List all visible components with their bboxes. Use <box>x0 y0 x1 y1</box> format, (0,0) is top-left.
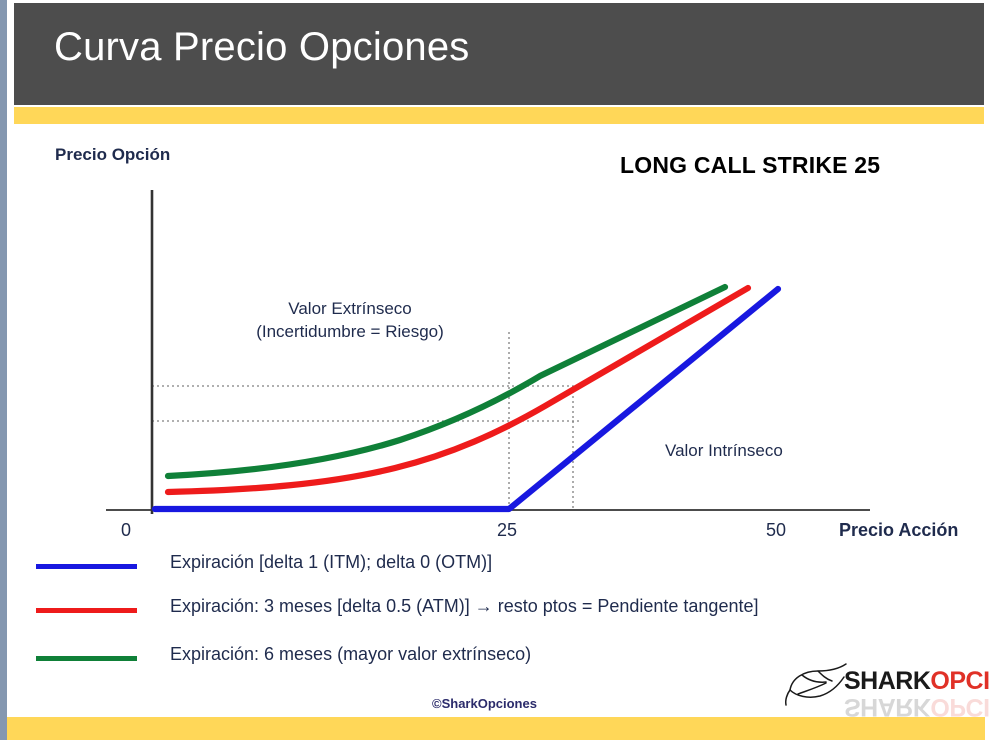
x-tick-label-25: 25 <box>497 520 517 541</box>
annotation-valor-intrinseco: Valor Intrínseco <box>665 440 783 463</box>
annotation-extrinseco-line2: (Incertidumbre = Riesgo) <box>215 321 485 344</box>
option-price-curve-plot <box>0 124 990 544</box>
copyright-text: ©SharkOpciones <box>432 696 537 711</box>
legend-label-6-meses: Expiración: 6 meses (mayor valor extríns… <box>170 644 531 665</box>
annotation-valor-extrinseco: Valor Extrínseco (Incertidumbre = Riesgo… <box>215 298 485 344</box>
logo-word-shark: SHARK <box>844 667 930 695</box>
x-tick-label-50: 50 <box>766 520 786 541</box>
x-axis-label: Precio Acción <box>839 520 958 541</box>
sharkopciones-logo: SHARKOPCIONES SHARKOPCIONES <box>782 662 982 714</box>
accent-band-top <box>14 107 984 124</box>
legend-swatch-red <box>36 608 137 613</box>
chart-container: Precio Opción LONG CALL STRIKE 25 Valor … <box>0 124 990 544</box>
legend-swatch-blue <box>36 564 137 569</box>
logo-word-opciones: OPCIONES <box>930 667 990 695</box>
accent-band-bottom <box>7 717 985 740</box>
legend-item-3-meses: Expiración: 3 meses [delta 0.5 (ATM)] → … <box>0 596 990 630</box>
page-title: Curva Precio Opciones <box>54 25 470 70</box>
legend-label-expiracion: Expiración [delta 1 (ITM); delta 0 (OTM)… <box>170 552 492 573</box>
legend-swatch-green <box>36 656 137 661</box>
annotation-extrinseco-line1: Valor Extrínseco <box>215 298 485 321</box>
legend-item-expiracion: Expiración [delta 1 (ITM); delta 0 (OTM)… <box>0 552 990 586</box>
slide-canvas: Curva Precio Opciones Precio Opción LONG… <box>0 0 990 740</box>
x-tick-label-0: 0 <box>121 520 131 541</box>
legend-label-3-meses: Expiración: 3 meses [delta 0.5 (ATM)] → … <box>170 596 758 617</box>
shark-fin-icon <box>782 662 852 708</box>
